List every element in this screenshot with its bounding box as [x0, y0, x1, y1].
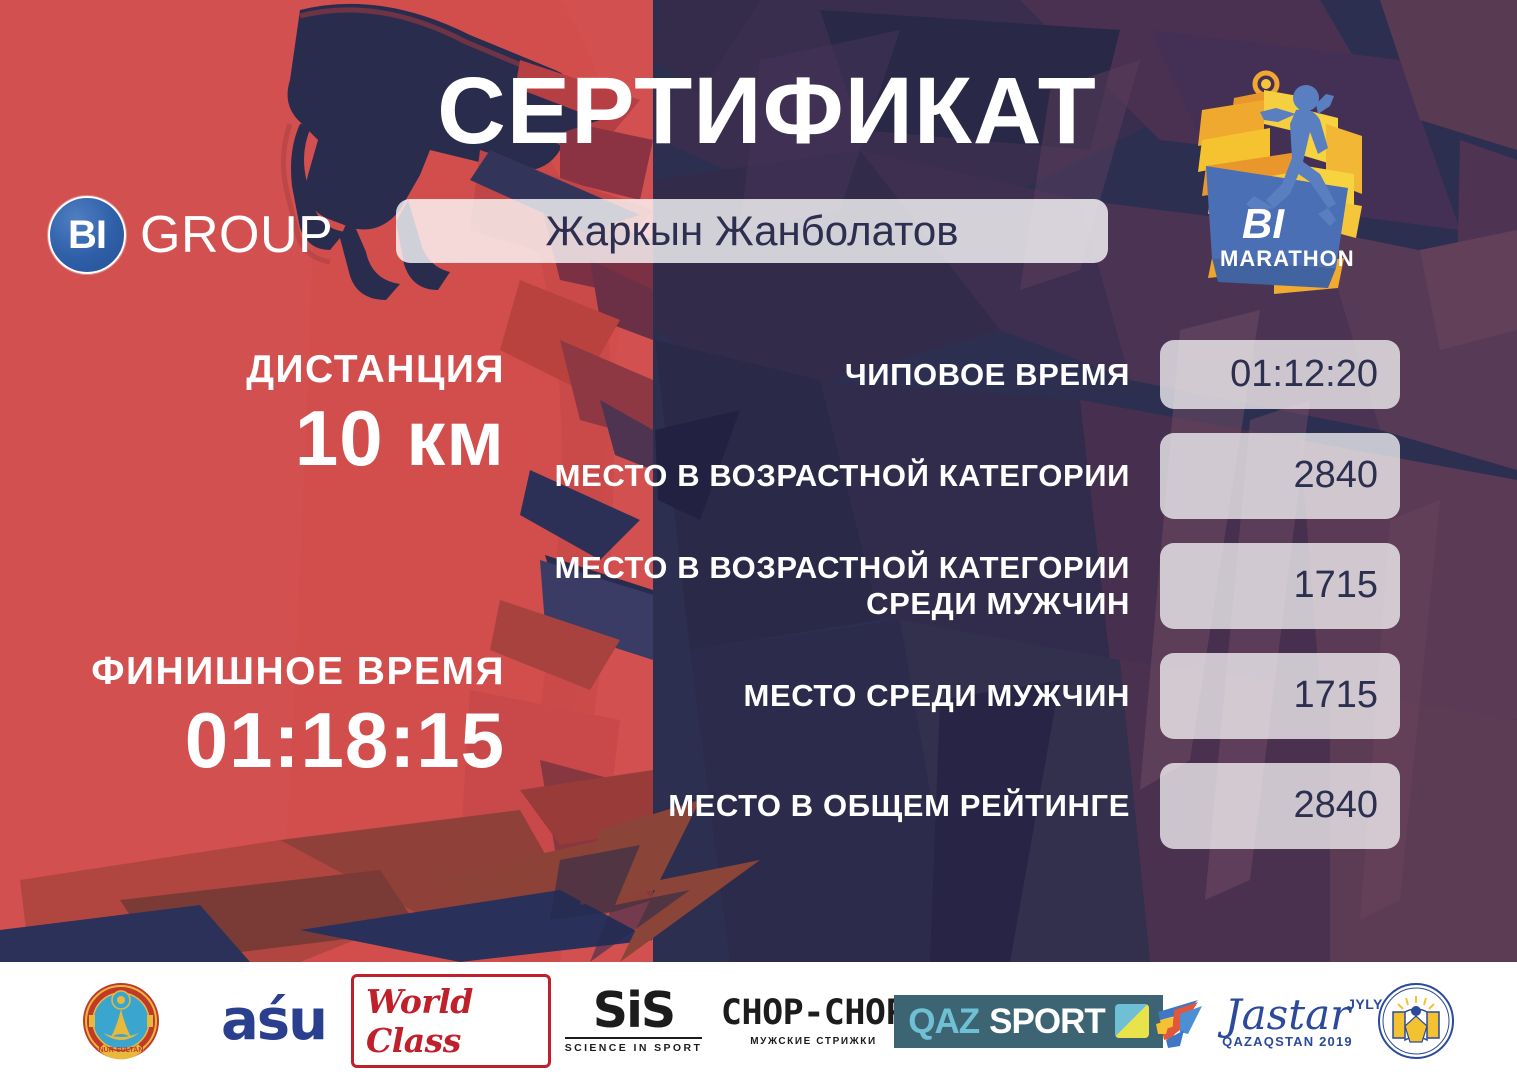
sponsor-chop-chop: CHOP-CHOP МУЖСКИЕ СТРИЖКИ	[716, 973, 911, 1069]
sponsor-ministry	[1361, 973, 1471, 1069]
finish-time-label: ФИНИШНОЕ ВРЕМЯ	[60, 650, 505, 694]
stat-label: МЕСТО В ВОЗРАСТНОЙ КАТЕГОРИИ СРЕДИ МУЖЧИ…	[520, 550, 1160, 621]
nur-sultan-seal-icon: NUR-SULTAN	[81, 981, 161, 1061]
participant-name-badge: Жаркын Жанболатов	[396, 199, 1108, 263]
distance-label: ДИСТАНЦИЯ	[60, 348, 505, 392]
stat-label: ЧИПОВОЕ ВРЕМЯ	[520, 357, 1160, 392]
bi-group-wordmark: GROUP	[140, 209, 333, 261]
ministry-seal-icon	[1377, 982, 1455, 1060]
stat-row-men-place: МЕСТО СРЕДИ МУЖЧИН 1715	[520, 653, 1400, 739]
certificate-page: BI GROUP СЕРТИФИКАТ Жаркын Жанболатов	[0, 0, 1517, 1080]
bi-marathon-logo: BI MARATHON	[1178, 62, 1390, 302]
stat-row-age-category-place: МЕСТО В ВОЗРАСТНОЙ КАТЕГОРИИ 2840	[520, 433, 1400, 519]
bi-circle-icon: BI	[48, 196, 126, 274]
sis-tagline: SCIENCE IN SPORT	[565, 1037, 703, 1054]
jastar-tagline: QAZAQSTAN 2019	[1222, 1034, 1353, 1049]
stat-value-pill: 1715	[1160, 653, 1400, 739]
sponsor-strip: NUR-SULTAN aśu World Class SiS SCIENCE I…	[0, 962, 1517, 1080]
svg-text:MARATHON: MARATHON	[1220, 246, 1355, 271]
bi-group-logo: BI GROUP	[48, 196, 333, 274]
finish-time-value: 01:18:15	[60, 698, 505, 784]
chop-chop-wordmark: CHOP-CHOP	[721, 996, 906, 1031]
qazsport-wordmark-qaz: QAZ	[908, 1004, 979, 1039]
stat-value-pill: 01:12:20	[1160, 340, 1400, 409]
world-class-badge: World Class	[351, 974, 551, 1068]
stat-value-pill: 2840	[1160, 433, 1400, 519]
sis-wordmark: SiS	[565, 988, 703, 1035]
stats-list: ЧИПОВОЕ ВРЕМЯ 01:12:20 МЕСТО В ВОЗРАСТНО…	[520, 340, 1400, 849]
stat-label: МЕСТО СРЕДИ МУЖЧИН	[520, 678, 1160, 713]
stat-value-pill: 1715	[1160, 543, 1400, 629]
svg-text:BI: BI	[1242, 200, 1285, 247]
bi-badge-text: BI	[68, 215, 106, 255]
stat-value-pill: 2840	[1160, 763, 1400, 849]
finish-time-block: ФИНИШНОЕ ВРЕМЯ 01:18:15	[60, 650, 505, 783]
stat-label: МЕСТО В ВОЗРАСТНОЙ КАТЕГОРИИ	[520, 458, 1160, 493]
jastar-jyly-label: JYLY	[1347, 996, 1383, 1012]
distance-block: ДИСТАНЦИЯ 10 км	[60, 348, 505, 481]
sponsor-nur-sultan: NUR-SULTAN	[46, 973, 196, 1069]
world-class-wordmark: World Class	[366, 982, 473, 1060]
chop-chop-tagline: МУЖСКИЕ СТРИЖКИ	[721, 1036, 906, 1047]
stat-label: МЕСТО В ОБЩЕМ РЕЙТИНГЕ	[520, 788, 1160, 823]
seal-text: NUR-SULTAN	[99, 1047, 144, 1054]
stat-row-overall-place: МЕСТО В ОБЩЕМ РЕЙТИНГЕ 2840	[520, 763, 1400, 849]
asu-wordmark: aśu	[221, 993, 326, 1049]
stat-row-chip-time: ЧИПОВОЕ ВРЕМЯ 01:12:20	[520, 340, 1400, 409]
jastar-bird-icon	[1154, 990, 1216, 1052]
sponsor-qazsport: QAZSPORT	[911, 973, 1146, 1069]
sponsor-asu: aśu	[196, 973, 351, 1069]
sponsor-jastar: Jastar JYLY QAZAQSTAN 2019	[1146, 973, 1361, 1069]
sponsor-world-class: World Class	[351, 973, 551, 1069]
sponsor-sis: SiS SCIENCE IN SPORT	[551, 973, 716, 1069]
distance-value: 10 км	[60, 396, 505, 482]
qazsport-badge: QAZSPORT	[894, 995, 1162, 1048]
participant-name: Жаркын Жанболатов	[545, 210, 958, 252]
stat-row-age-category-men-place: МЕСТО В ВОЗРАСТНОЙ КАТЕГОРИИ СРЕДИ МУЖЧИ…	[520, 543, 1400, 629]
qazsport-square-icon	[1115, 1004, 1149, 1038]
qazsport-wordmark-sport: SPORT	[989, 1004, 1105, 1039]
page-title: СЕРТИФИКАТ	[392, 62, 1142, 162]
jastar-wordmark: Jastar	[1222, 994, 1353, 1036]
